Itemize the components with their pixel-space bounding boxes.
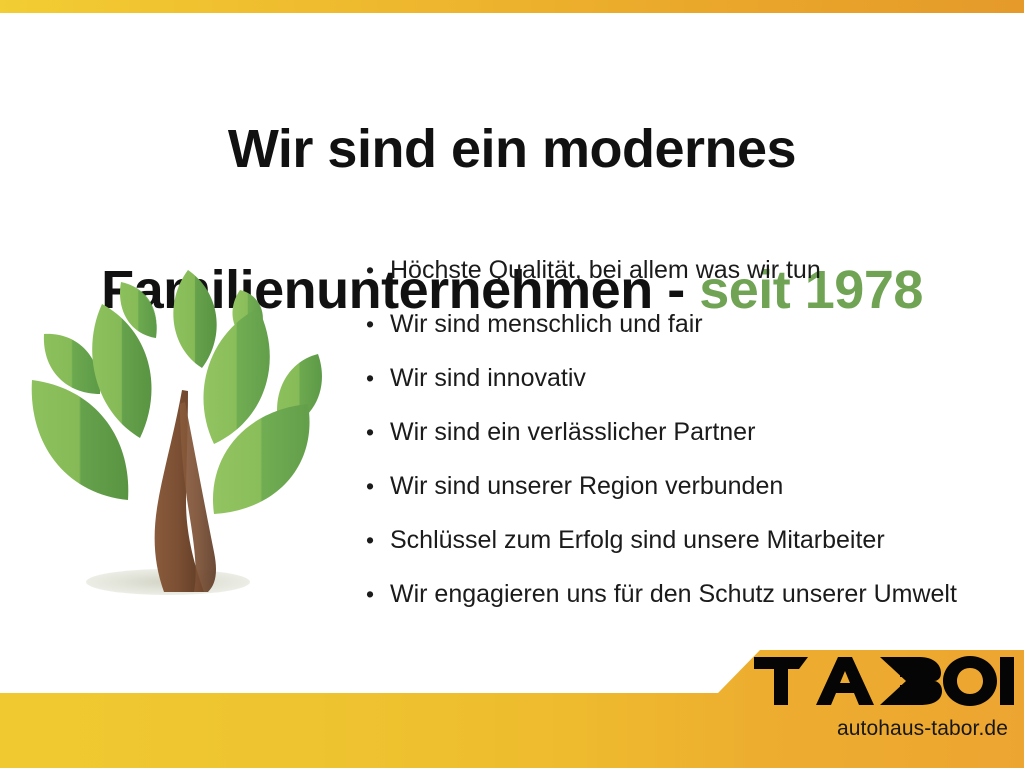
list-item: • Höchste Qualität, bei allem was wir tu… [366,243,1016,297]
logo-tagline: autohaus-tabor.de [752,717,1014,741]
list-item: • Schlüssel zum Erfolg sind unsere Mitar… [366,513,1016,567]
list-item-label: Schlüssel zum Erfolg sind unsere Mitarbe… [390,513,1016,567]
list-item: • Wir sind menschlich und fair [366,297,1016,351]
list-item-label: Höchste Qualität, bei allem was wir tun [390,243,1016,297]
slide-canvas: Wir sind ein modernes Familienunternehme… [0,0,1024,768]
brand-logo[interactable]: autohaus-tabor.de [752,655,1014,755]
list-item-label: Wir sind innovativ [390,351,1016,405]
tabor-wordmark-icon [752,655,1014,707]
bullet-marker-icon: • [366,459,390,513]
bullet-marker-icon: • [366,297,390,351]
top-gradient-bar [0,0,1024,13]
list-item: • Wir sind unserer Region verbunden [366,459,1016,513]
list-item-label: Wir sind unserer Region verbunden [390,459,1016,513]
list-item: • Wir engagieren uns für den Schutz unse… [366,567,1016,621]
bullet-marker-icon: • [366,351,390,405]
value-bullet-list: • Höchste Qualität, bei allem was wir tu… [366,243,1016,621]
list-item-label: Wir sind ein verlässlicher Partner [390,405,1016,459]
bullet-marker-icon: • [366,243,390,297]
leaf-top-center [173,270,216,368]
bullet-marker-icon: • [366,513,390,567]
bullet-marker-icon: • [366,405,390,459]
list-item: • Wir sind ein verlässlicher Partner [366,405,1016,459]
headline-line-1: Wir sind ein modernes [0,114,1024,184]
list-item-label: Wir sind menschlich und fair [390,297,1016,351]
tree-illustration [18,252,348,604]
list-item-label: Wir engagieren uns für den Schutz unsere… [390,567,1016,621]
bullet-marker-icon: • [366,567,390,621]
list-item: • Wir sind innovativ [366,351,1016,405]
